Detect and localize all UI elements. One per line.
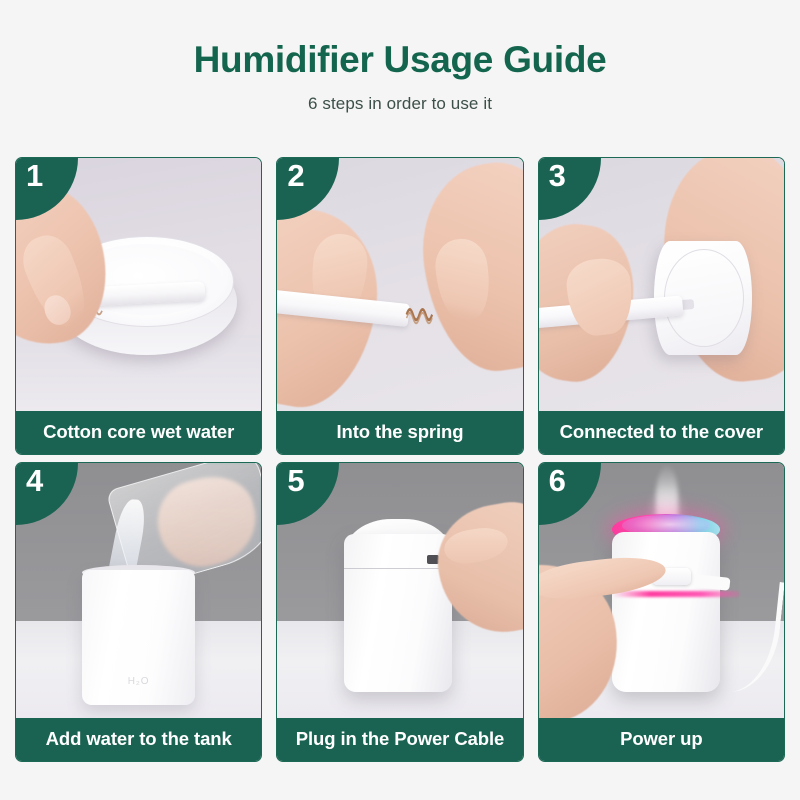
step-card-1[interactable]: 1 Cotton core wet water bbox=[15, 157, 262, 455]
step-photo-4: H₂O 4 bbox=[16, 463, 261, 718]
step-photo-1: 1 bbox=[16, 158, 261, 411]
header: Humidifier Usage Guide 6 steps in order … bbox=[0, 0, 800, 114]
step-caption-6: Power up bbox=[539, 718, 784, 761]
step-number-6: 6 bbox=[549, 465, 566, 496]
step-number-2: 2 bbox=[287, 160, 304, 191]
step-card-6[interactable]: 6 Power up bbox=[538, 462, 785, 762]
step-number-1: 1 bbox=[26, 160, 43, 191]
step-caption-5: Plug in the Power Cable bbox=[277, 718, 522, 761]
step-photo-2: 2 bbox=[277, 158, 522, 411]
spring-icon bbox=[405, 302, 437, 327]
page-title: Humidifier Usage Guide bbox=[0, 40, 800, 81]
step-photo-3: 3 bbox=[539, 158, 784, 411]
page-subtitle: 6 steps in order to use it bbox=[0, 94, 800, 114]
step-caption-2: Into the spring bbox=[277, 411, 522, 454]
step-photo-6: 6 bbox=[539, 463, 784, 718]
step-caption-3: Connected to the cover bbox=[539, 411, 784, 454]
steps-grid: 1 Cotton core wet water bbox=[15, 157, 785, 762]
spring-svg bbox=[405, 302, 437, 327]
step-number-4: 4 bbox=[26, 465, 43, 496]
step-photo-5: 5 bbox=[277, 463, 522, 718]
step-caption-1: Cotton core wet water bbox=[16, 411, 261, 454]
step-caption-4: Add water to the tank bbox=[16, 718, 261, 761]
water-tank-icon: H₂O bbox=[82, 570, 195, 705]
step-card-3[interactable]: 3 Connected to the cover bbox=[538, 157, 785, 455]
body-seam-icon bbox=[344, 568, 452, 570]
step-number-3: 3 bbox=[549, 160, 566, 191]
step-card-2[interactable]: 2 Into the spring bbox=[276, 157, 523, 455]
infographic-page: Humidifier Usage Guide 6 steps in order … bbox=[0, 0, 800, 800]
step-card-4[interactable]: H₂O 4 Add water to the tank bbox=[15, 462, 262, 762]
tank-label: H₂O bbox=[82, 676, 195, 687]
step-number-5: 5 bbox=[287, 465, 304, 496]
step-card-5[interactable]: 5 Plug in the Power Cable bbox=[276, 462, 523, 762]
